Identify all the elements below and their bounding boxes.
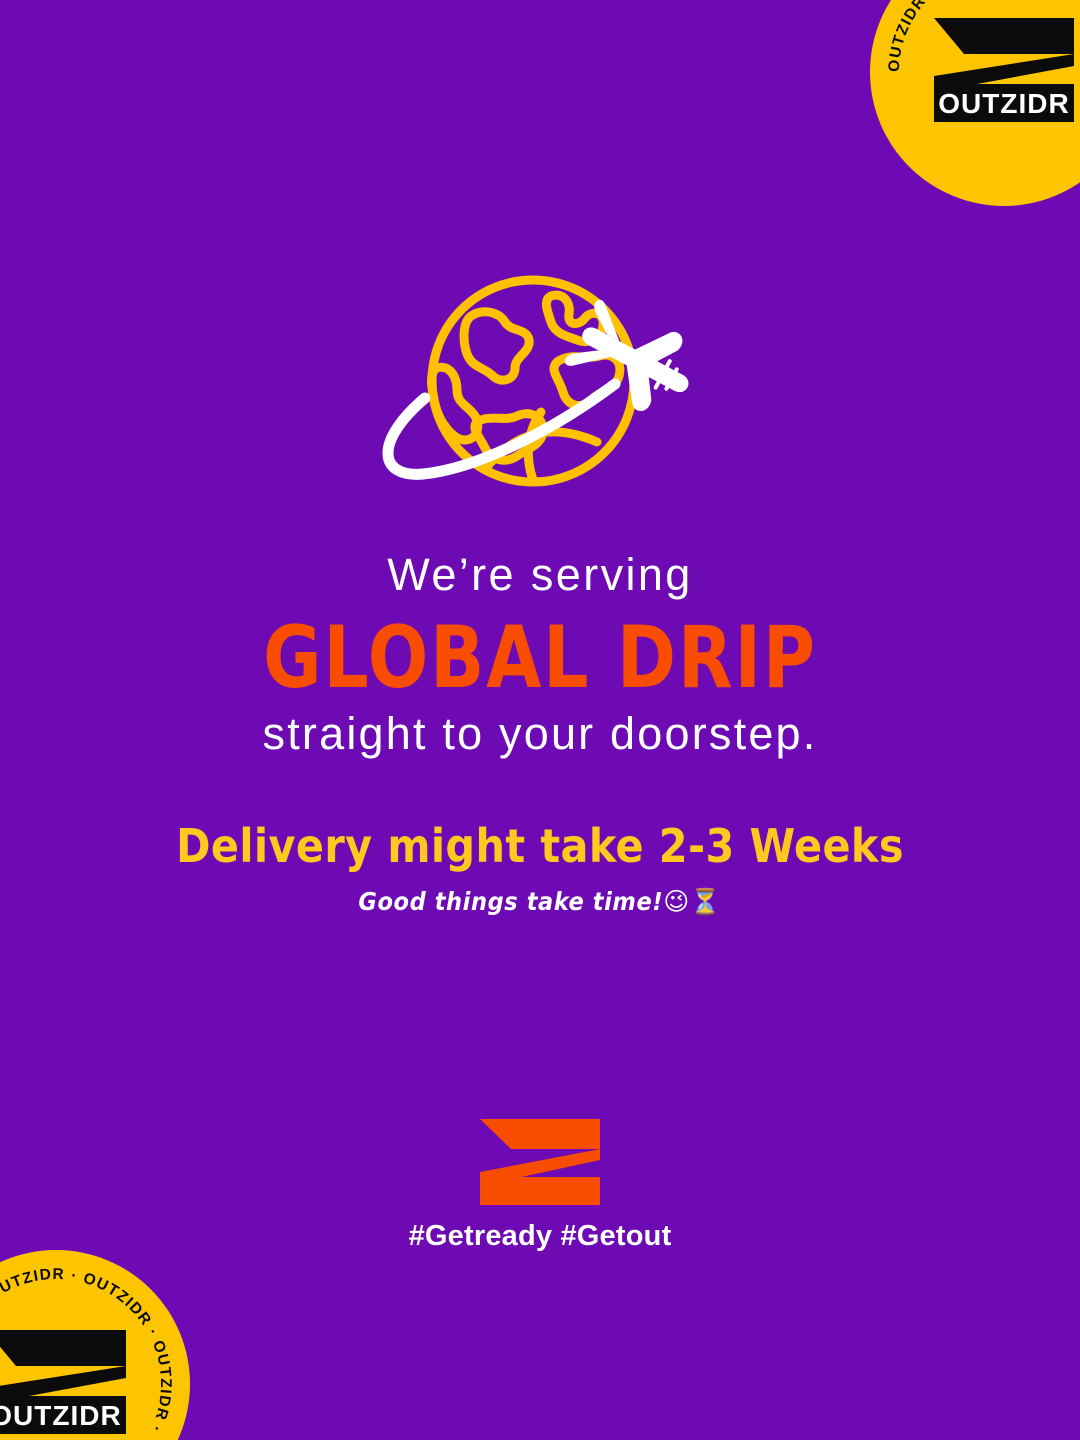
seal-center-lockup-bottom-left: OUTZIDR <box>0 1326 132 1440</box>
outzidr-seal-top-right: OUTZIDR · OUTZIDR · OUTZIDR · OUTZIDR · … <box>870 0 1080 206</box>
landmass-north <box>464 312 529 380</box>
outzidr-seal-bottom-left: OUTZIDR · OUTZIDR · OUTZIDR · OUTZIDR · … <box>0 1250 190 1440</box>
delivery-notice-block: Delivery might take 2-3 Weeks Good thing… <box>0 820 1080 917</box>
seal-center-wordmark-tr: OUTZIDR <box>938 88 1069 119</box>
outzidr-z-logo <box>477 1118 603 1206</box>
promo-poster: OUTZIDR · OUTZIDR · OUTZIDR · OUTZIDR · … <box>0 0 1080 1440</box>
hourglass-emoji: ⏳ <box>690 887 722 916</box>
seal-center-wordmark-bl: OUTZIDR <box>0 1400 122 1431</box>
page-title: GLOBAL DRIP <box>43 615 1037 701</box>
globe-airplane-icon <box>365 272 715 504</box>
headline-kicker: We’re serving <box>0 548 1080 601</box>
footer-hashtags: #Getready #Getout <box>0 1220 1080 1253</box>
delivery-notice: Delivery might take 2-3 Weeks <box>0 820 1080 873</box>
delivery-reassurance-text: Good things take time! <box>358 887 663 916</box>
delivery-reassurance: Good things take time!😉⏳ <box>0 887 1080 917</box>
seal-center-lockup-top-right: OUTZIDR <box>928 14 1080 130</box>
headline-block: We’re serving GLOBAL DRIP straight to yo… <box>0 548 1080 761</box>
footer-brand-block: #Getready #Getout <box>0 1118 1080 1253</box>
headline-subtitle: straight to your doorstep. <box>0 707 1080 761</box>
wink-face-emoji: 😉 <box>663 887 690 916</box>
